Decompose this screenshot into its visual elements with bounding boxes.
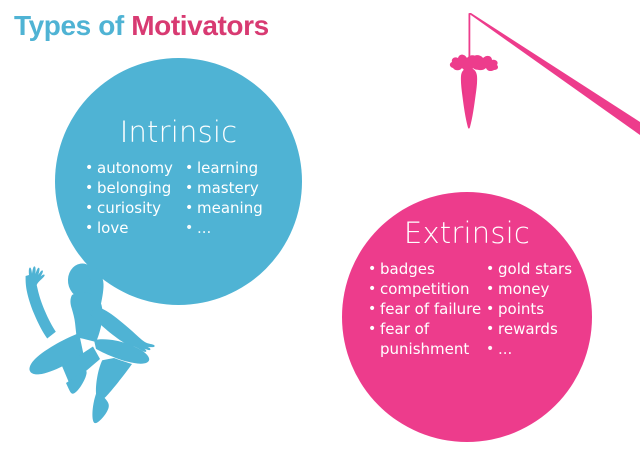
intrinsic-circle[interactable]: Intrinsic autonomy belonging curiosity l… [55,58,302,305]
list-item: rewards [486,319,583,339]
intrinsic-right-column: learning mastery meaning ... [185,158,275,238]
extrinsic-right-column: gold stars money points rewards ... [486,259,583,359]
extrinsic-left-column: badges competition fear of failure fear … [368,259,486,359]
list-item: love [85,218,185,238]
page-title-second-part: Motivators [131,10,269,41]
page-title-first-part: Types of [14,10,131,41]
intrinsic-lists: autonomy belonging curiosity love learni… [85,158,275,238]
carrot-on-stick-illustration [440,0,640,160]
carrot-on-stick-icon [440,0,640,160]
list-item: autonomy [85,158,185,178]
list-item: curiosity [85,198,185,218]
infographic-canvas: Types of Motivators Intrinsic autonomy b… [0,0,640,457]
list-item: fear of punishment [368,319,486,359]
extrinsic-circle[interactable]: Extrinsic badges competition fear of fai… [342,192,592,442]
intrinsic-left-column: autonomy belonging curiosity love [85,158,185,238]
page-title: Types of Motivators [14,8,269,44]
extrinsic-heading: Extrinsic [342,217,592,249]
list-item: money [486,279,583,299]
list-item: meaning [185,198,275,218]
list-item: points [486,299,583,319]
list-item: fear of failure [368,299,486,319]
list-item: ... [185,218,275,238]
list-item: learning [185,158,275,178]
extrinsic-lists: badges competition fear of failure fear … [368,259,583,359]
list-item: belonging [85,178,185,198]
list-item: ... [486,339,583,359]
intrinsic-heading: Intrinsic [55,116,302,148]
list-item: gold stars [486,259,583,279]
list-item: badges [368,259,486,279]
list-item: competition [368,279,486,299]
list-item: mastery [185,178,275,198]
